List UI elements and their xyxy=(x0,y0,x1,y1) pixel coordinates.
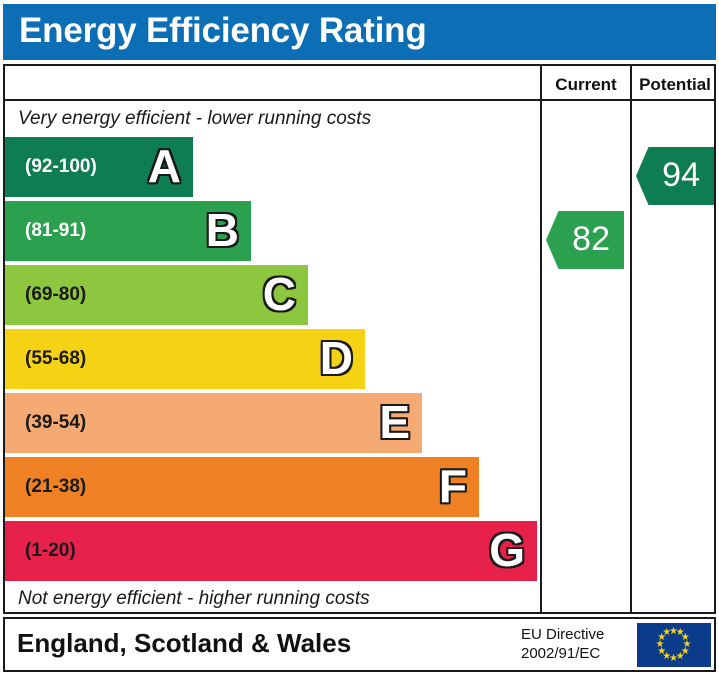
eu-flag-icon xyxy=(637,623,711,667)
potential-rating-marker-value: 94 xyxy=(662,147,700,205)
band-bar-d: (55-68)D xyxy=(5,329,365,389)
footer-directive-line1: EU Directive xyxy=(521,625,629,644)
band-range-a: (92-100) xyxy=(25,137,97,197)
footer-region-label: England, Scotland & Wales xyxy=(17,628,351,659)
band-bar-g: (1-20)G xyxy=(5,521,537,581)
band-range-f: (21-38) xyxy=(25,457,86,517)
bottom-caption: Not energy efficient - higher running co… xyxy=(18,588,370,610)
band-range-g: (1-20) xyxy=(25,521,76,581)
band-bar-a: (92-100)A xyxy=(5,137,193,197)
title-bar: Energy Efficiency Rating xyxy=(3,4,716,60)
potential-column-divider xyxy=(630,64,632,614)
band-range-d: (55-68) xyxy=(25,329,86,389)
band-range-e: (39-54) xyxy=(25,393,86,453)
band-letter-b: B xyxy=(206,201,239,261)
page-title: Energy Efficiency Rating xyxy=(19,11,427,51)
potential-rating-marker: 94 xyxy=(636,147,714,205)
current-rating-marker: 82 xyxy=(546,211,624,269)
band-letter-g: G xyxy=(489,521,525,581)
current-rating-marker-value: 82 xyxy=(572,211,610,269)
band-bar-c: (69-80)C xyxy=(5,265,308,325)
band-letter-f: F xyxy=(439,457,467,517)
current-column-divider xyxy=(540,64,542,614)
band-letter-d: D xyxy=(320,329,353,389)
footer-directive: EU Directive 2002/91/EC xyxy=(521,625,629,663)
band-bar-e: (39-54)E xyxy=(5,393,422,453)
top-caption: Very energy efficient - lower running co… xyxy=(18,108,371,130)
footer-directive-line2: 2002/91/EC xyxy=(521,644,629,663)
band-bar-f: (21-38)F xyxy=(5,457,479,517)
band-range-c: (69-80) xyxy=(25,265,86,325)
band-range-b: (81-91) xyxy=(25,201,86,261)
header-row-separator xyxy=(3,99,716,101)
band-letter-c: C xyxy=(263,265,296,325)
band-bar-b: (81-91)B xyxy=(5,201,251,261)
current-column-header: Current xyxy=(542,72,630,98)
band-letter-a: A xyxy=(148,137,181,197)
energy-efficiency-rating-chart: Energy Efficiency Rating Current Potenti… xyxy=(0,0,719,676)
potential-column-header: Potential xyxy=(632,72,718,98)
band-letter-e: E xyxy=(379,393,410,453)
